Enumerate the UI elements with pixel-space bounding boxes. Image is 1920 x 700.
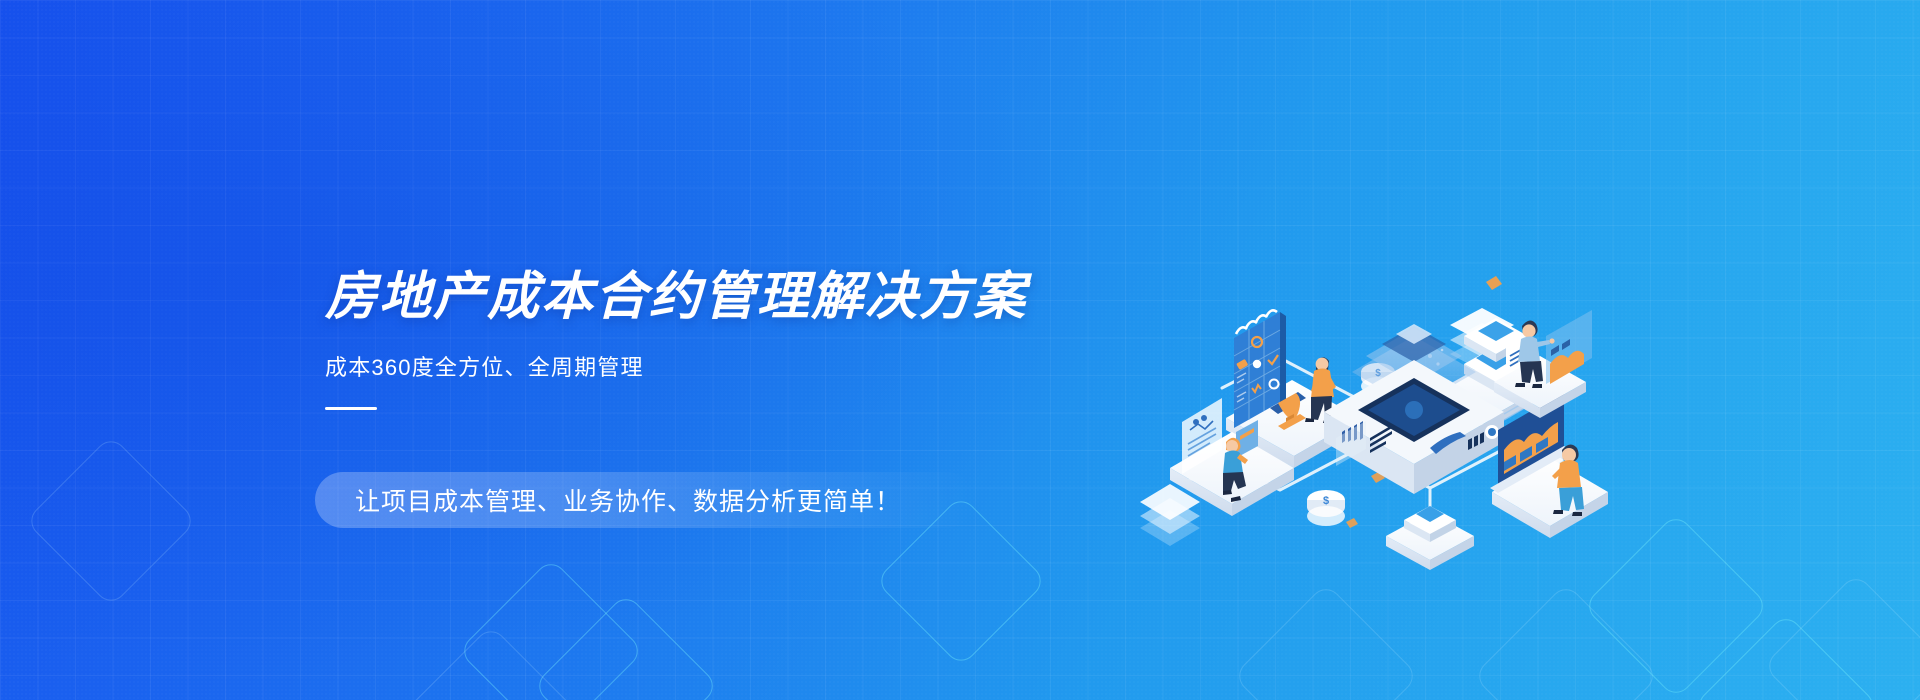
page-title: 房地产成本合约管理解决方案 <box>325 270 1085 324</box>
decorative-diamond-9 <box>1763 573 1920 700</box>
tagline-text: 让项目成本管理、业务协作、数据分析更简单！ <box>355 482 901 518</box>
hero-banner: 房地产成本合约管理解决方案 成本360度全方位、全周期管理 让项目成本管理、业务… <box>0 0 1920 700</box>
decorative-diamond-1 <box>458 558 645 700</box>
coin-stack-lower: $ <box>1307 490 1345 526</box>
hero-copy: 房地产成本合约管理解决方案 成本360度全方位、全周期管理 <box>325 270 1085 410</box>
decorative-diamond-6 <box>1473 583 1660 700</box>
bottom-stacked-node <box>1386 506 1474 570</box>
floating-sheet-left <box>1140 484 1200 546</box>
svg-text:$: $ <box>1323 495 1329 507</box>
decorative-diamond-2 <box>533 593 720 700</box>
decorative-diamond-7 <box>1583 513 1770 700</box>
isometric-illustration: $ $ $ <box>1130 150 1610 570</box>
page-subtitle: 成本360度全方位、全周期管理 <box>325 350 1085 382</box>
decorative-diamond-3 <box>405 625 578 700</box>
tagline-pill: 让项目成本管理、业务协作、数据分析更简单！ <box>315 472 975 528</box>
decorative-diamond-0 <box>25 435 198 608</box>
decorative-diamond-8 <box>1693 613 1880 700</box>
title-divider <box>325 407 377 410</box>
decorative-diamond-5 <box>1233 583 1420 700</box>
